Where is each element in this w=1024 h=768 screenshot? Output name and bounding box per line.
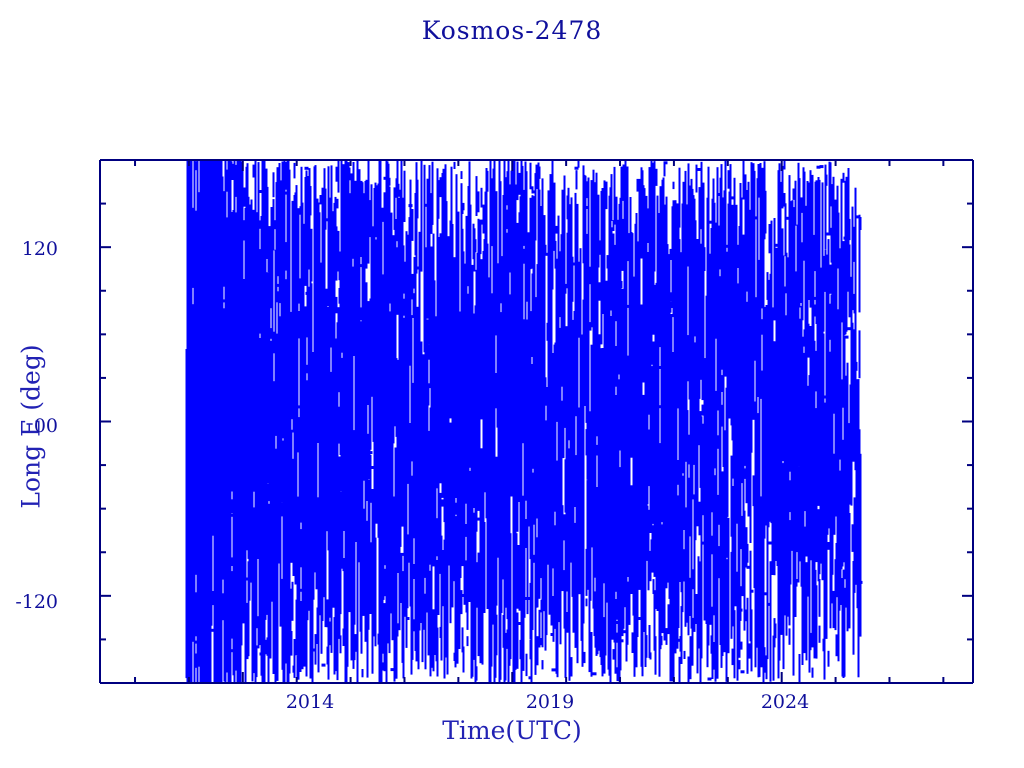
plot-area — [0, 0, 1024, 768]
data-series-layer — [186, 160, 862, 683]
chart-figure: Kosmos-2478 Long E (deg) Time(UTC) 120 0… — [0, 0, 1024, 768]
